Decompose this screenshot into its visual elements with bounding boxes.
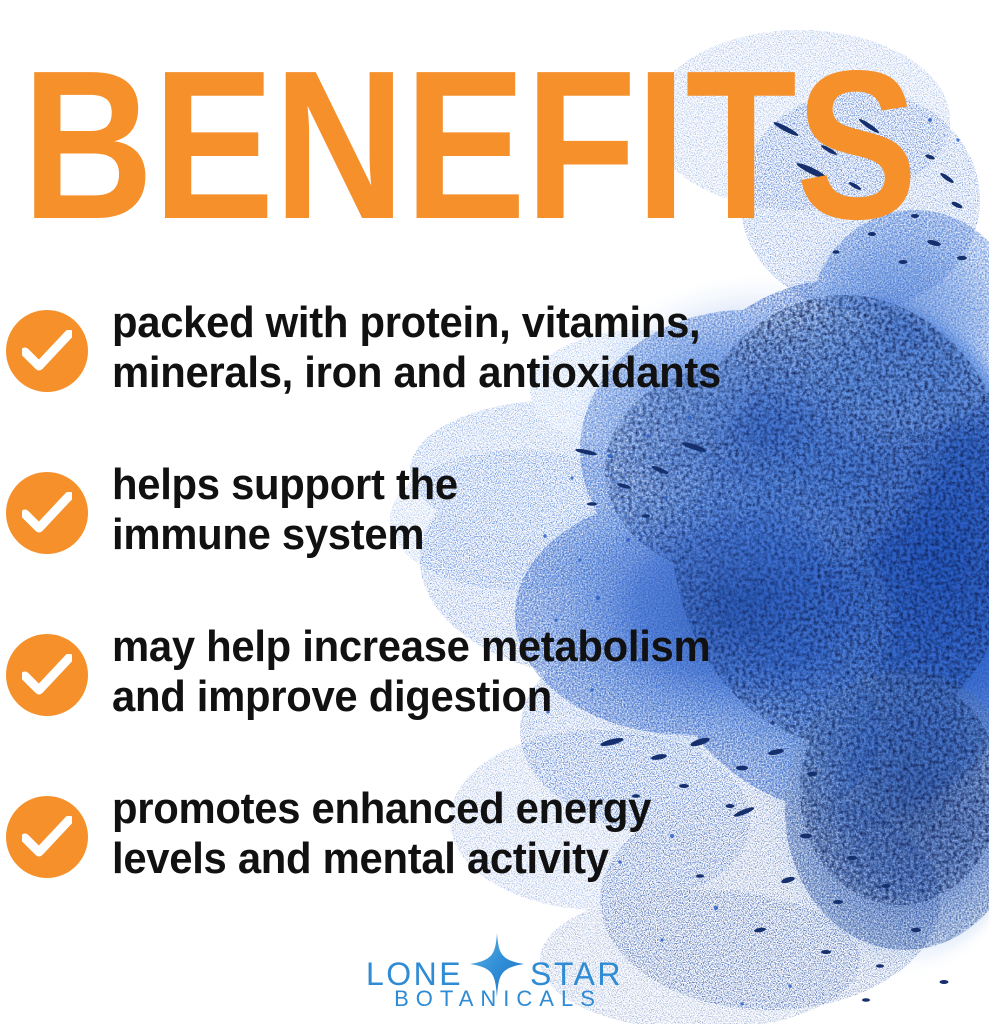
check-circle-icon [6,472,88,554]
list-item: may help increase metabolism and improve… [0,622,820,742]
list-item-line: may help increase metabolism [112,622,785,672]
list-item-line: immune system [112,510,785,560]
benefits-list: packed with protein, vitamins, minerals,… [0,298,820,904]
list-item-text: packed with protein, vitamins, minerals,… [112,298,785,398]
list-item: packed with protein, vitamins, minerals,… [0,298,820,418]
logo-word-lone: LONE [366,953,463,995]
check-circle-icon [6,634,88,716]
list-item-text: helps support the immune system [112,460,785,560]
logo-word-star: STAR [530,953,623,995]
list-item-line: and improve digestion [112,672,785,722]
page-title: BENEFITS [22,52,917,239]
four-point-star-icon [470,933,524,997]
list-item-line: packed with protein, vitamins, [112,298,785,348]
list-item-text: promotes enhanced energy levels and ment… [112,784,785,884]
logo-wordmark: LONE STAR [366,942,623,984]
brand-logo: LONE STAR BOTANICALS [0,942,989,1012]
list-item: helps support the immune system [0,460,820,580]
list-item-text: may help increase metabolism and improve… [112,622,785,722]
check-circle-icon [6,310,88,392]
list-item-line: promotes enhanced energy [112,784,785,834]
list-item-line: helps support the [112,460,785,510]
list-item: promotes enhanced energy levels and ment… [0,784,820,904]
check-circle-icon [6,796,88,878]
list-item-line: levels and mental activity [112,834,785,884]
list-item-line: minerals, iron and antioxidants [112,348,785,398]
benefits-poster: BENEFITS packed with protein, vitamins, … [0,0,989,1024]
